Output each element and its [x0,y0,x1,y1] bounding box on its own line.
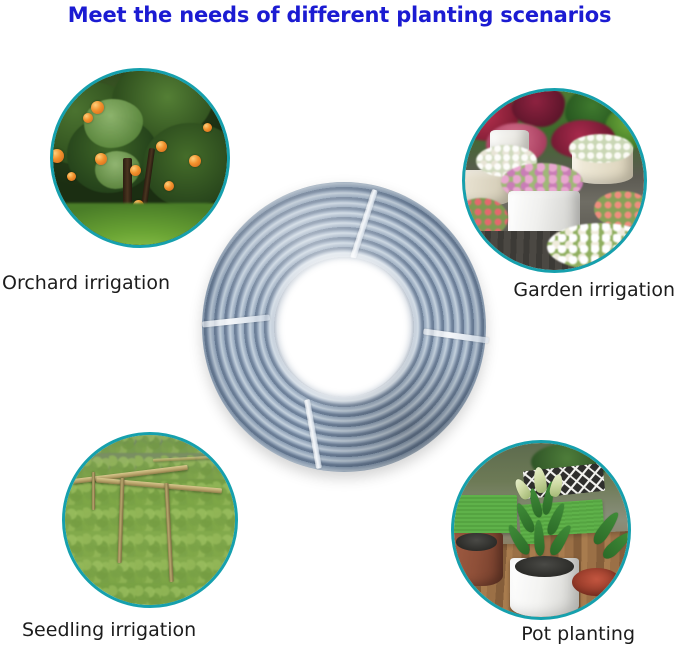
garden-scene [465,91,644,270]
trellis-post [92,472,95,509]
scenario-label-orchard: Orchard irrigation [2,272,170,294]
product-hose-coil [202,182,486,472]
orange-fruit [95,153,107,165]
orange-fruit [156,141,167,152]
pot-soil [456,533,498,550]
orchard-scene [53,71,227,245]
pot-saucer [572,568,621,596]
scenario-label-pot: Pot planting [521,623,635,645]
orange-fruit [189,155,201,167]
scenario-label-garden: Garden irrigation [513,279,675,301]
scenario-label-seedling: Seedling irrigation [22,619,196,641]
orange-fruit [83,113,93,123]
garden-coral-flowers [594,191,644,227]
orange-fruit [164,181,174,191]
orange-fruit [130,165,141,176]
garden-foreground-flowers [547,223,644,270]
garden-white-flowers [569,134,633,163]
promo-poster: Meet the needs of different planting sce… [0,0,679,657]
hose-coil-center-hole [277,257,411,397]
orange-fruit [67,172,76,181]
page-title: Meet the needs of different planting sce… [0,3,679,27]
artificial-turf [454,495,517,533]
orange-fruit [91,101,104,114]
orchard-grass [53,203,227,245]
pot-soil [515,556,574,577]
orange-fruit [203,123,212,132]
scenario-image-garden [462,88,647,273]
